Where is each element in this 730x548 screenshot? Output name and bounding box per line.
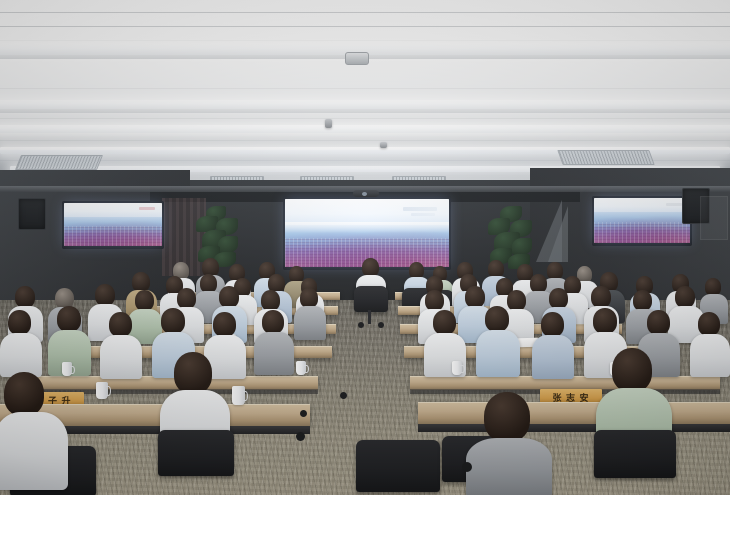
paper-cup bbox=[232, 386, 245, 405]
main-led-wall[interactable] bbox=[285, 199, 449, 267]
table-row bbox=[26, 376, 318, 390]
screen-logo bbox=[403, 207, 437, 211]
office-chair bbox=[158, 430, 234, 476]
paper-cup bbox=[62, 362, 72, 376]
linear-led-strip bbox=[0, 125, 730, 133]
sprinkler-head bbox=[325, 119, 332, 128]
ceiling-air-vent bbox=[557, 150, 654, 165]
ceiling-conference-camera bbox=[353, 190, 379, 197]
chair-caster bbox=[462, 462, 472, 472]
wall-speaker-left bbox=[18, 198, 46, 230]
office-chair bbox=[594, 430, 676, 478]
smoke-detector bbox=[345, 52, 369, 65]
paper-cup bbox=[296, 361, 306, 375]
table-row bbox=[418, 402, 730, 425]
wall-panel-right bbox=[700, 196, 728, 240]
conference-room-photo: 干 子 升 张 志 安 bbox=[0, 0, 730, 495]
chair-caster bbox=[340, 392, 347, 399]
paper-cup bbox=[96, 382, 108, 399]
left-led-panel[interactable] bbox=[64, 203, 162, 246]
chair-caster bbox=[296, 432, 305, 441]
office-chair bbox=[354, 286, 388, 312]
office-chair bbox=[356, 440, 440, 492]
chair-caster bbox=[300, 410, 307, 417]
letterbox-bottom bbox=[0, 495, 730, 548]
linear-led-strip bbox=[0, 100, 730, 109]
paper-cup bbox=[452, 361, 462, 375]
wall-wedge-panel bbox=[548, 206, 568, 262]
ceiling-air-vent bbox=[15, 155, 103, 170]
right-led-panel[interactable] bbox=[594, 198, 690, 243]
screen-logo bbox=[411, 213, 435, 216]
sprinkler-head bbox=[380, 142, 387, 148]
